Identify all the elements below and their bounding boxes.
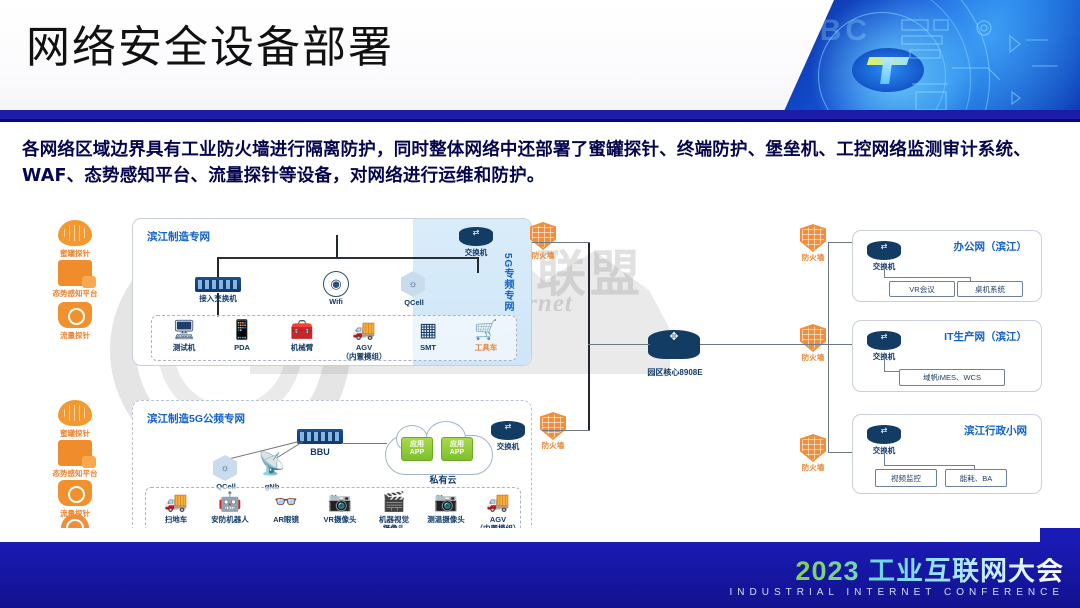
title-divider-rule: [0, 110, 1080, 119]
trunk-drop-right: [477, 257, 479, 273]
agv-label: AGV （内置模组）: [335, 344, 393, 361]
footer-notch: [0, 528, 1040, 542]
sweeper-truck-label: 扫地车: [147, 516, 205, 525]
campus-core-router-icon: ✥: [648, 330, 700, 364]
app-chip-0-line1: 应用: [410, 441, 424, 449]
rail-bottom-label-1: 态势感知平台: [42, 470, 108, 479]
switch-icon: ⇄: [491, 421, 525, 443]
switch-label: 交换机: [477, 443, 539, 452]
zone-it-title: IT生产网（滨江）: [944, 329, 1027, 344]
robot-arm-label: 机械臂: [273, 344, 331, 353]
zone-admin-drop: [884, 447, 885, 465]
firewall-shield-icon: [800, 224, 826, 252]
firewall-shield-icon: [540, 412, 566, 440]
security-robot-label: 安防机器人: [201, 516, 259, 525]
firewall-shield-icon: [800, 324, 826, 352]
security-robot-icon: 🤖: [213, 491, 247, 515]
device-security-robot: 🤖 安防机器人: [201, 491, 259, 525]
firewall-3-label: 防火墙: [796, 354, 830, 363]
pda-icon: 📱: [225, 319, 259, 343]
tester-icon: 🖥: [167, 319, 201, 343]
slide-root: CBC 网络安全设备部署 各网络区域边界具有工业防火墙进行隔离防护，同时整: [0, 0, 1080, 608]
smt-label: SMT: [399, 344, 457, 353]
zone-it-drop: [884, 353, 885, 371]
zone-admin-box-1: 能耗、BA: [945, 469, 1007, 487]
ar-glasses-icon: 👓: [269, 491, 303, 515]
device-agv-5g: 🚚 AGV （内置模组）: [469, 491, 527, 533]
app-chip-1-line2: APP: [450, 449, 464, 457]
vr-camera-icon: 📷: [323, 491, 357, 515]
zone-it-panel: IT生产网（滨江） ⇄ 交换机 域帆iMES、WCS: [852, 320, 1042, 392]
firewall-shield-icon: [800, 434, 826, 462]
app-chip-1: 应用 APP: [441, 437, 473, 461]
bastion-icon: [58, 302, 92, 328]
tool-cart-icon: 🛒: [469, 319, 503, 343]
conference-subtitle: INDUSTRIAL INTERNET CONFERENCE: [730, 587, 1064, 598]
firewall-2-label: 防火墙: [796, 254, 830, 263]
slide-description-text: 各网络区域边界具有工业防火墙进行隔离防护，同时整体网络中还部署了蜜罐探针、终端防…: [22, 138, 1066, 190]
device-vr-camera: 📷 VR摄像头: [311, 491, 369, 525]
zone-office-title: 办公网（滨江）: [954, 239, 1028, 254]
hero-tech-graphic: CBC: [780, 0, 1080, 120]
device-agv: 🚚 AGV （内置模组）: [335, 319, 393, 361]
firewall-1-label: 防火墙: [536, 442, 570, 451]
firewall-shield-icon: [530, 222, 556, 250]
conference-title: 2023 工业互联网大会: [730, 558, 1064, 585]
fw0-to-backbone: [532, 242, 590, 243]
tester-label: 测试机: [155, 344, 213, 353]
panel-manufacturing-title: 滨江制造专网: [147, 229, 210, 244]
smt-icon: ▦: [411, 319, 445, 343]
zone-office-panel: 办公网（滨江） ⇄ 交换机 VR会议 桌机系统: [852, 230, 1042, 302]
wifi-label: Wifi: [305, 298, 367, 307]
network-topology-diagram: 工业互联网产业联盟 Alliance of Industrial Interne…: [40, 212, 1050, 542]
pda-label: PDA: [213, 344, 271, 353]
zone-office-drop: [884, 263, 885, 277]
agv-icon: 🚚: [347, 319, 381, 343]
zone-admin-panel: 滨江行政小网 ⇄ 交换机 视频监控 能耗、BA: [852, 414, 1042, 494]
footer-accent-tab: [1040, 528, 1080, 542]
slide-footer-band: 2023 工业互联网大会 INDUSTRIAL INTERNET CONFERE…: [0, 542, 1080, 608]
zone-office-box-0: VR会议: [889, 281, 955, 297]
device-thermal-camera: 📷 测温摄像头: [417, 491, 475, 525]
rail-bottom-label-0: 蜜罐探针: [46, 430, 104, 439]
core-to-right-bus: [700, 344, 828, 345]
zone-office-bus: [884, 277, 970, 278]
core-switch-label: 交换机: [445, 249, 507, 258]
panel-vertical-5g-label: 5G专频专网: [501, 253, 513, 312]
rail-top-label-0: 蜜罐探针: [46, 250, 104, 259]
trunk-drop-left: [217, 257, 219, 279]
zone-admin-box-0: 视频监控: [875, 469, 937, 487]
ar-glasses-label: AR眼镜: [257, 516, 315, 525]
app-chip-0-line2: APP: [410, 449, 424, 457]
app-chip-1-line1: 应用: [450, 441, 464, 449]
app-chip-0: 应用 APP: [401, 437, 433, 461]
monitor-audit-icon: [58, 440, 92, 466]
device-tool-cart: 🛒 工具车: [457, 319, 515, 353]
conference-brand: 2023 工业互联网大会 INDUSTRIAL INTERNET CONFERE…: [730, 558, 1064, 598]
bbu-label: BBU: [289, 447, 351, 457]
panel-manufacturing-network: 滨江制造专网 接入交换机 ◉ Wifi ☼ QCell ⇄ 交换机 5G专: [132, 218, 532, 366]
device-sweeper-truck: 🚚 扫地车: [147, 491, 205, 525]
access-switch-label: 接入交换机: [181, 295, 255, 304]
vr-camera-label: VR摄像头: [311, 516, 369, 525]
firewall-4-label: 防火墙: [796, 464, 830, 473]
device-pda: 📱 PDA: [213, 319, 271, 353]
qcell-icon: ☼: [213, 455, 237, 481]
panel-5g-network: 滨江制造5G公频专网 BBU ☼ QCell 📡 gNb 应用 APP 应用 A…: [132, 400, 532, 540]
bastion-icon: [58, 480, 92, 506]
firewall-0-label: 防火墙: [526, 252, 560, 261]
gnb-icon: 📡: [255, 451, 289, 476]
tool-cart-label: 工具车: [457, 344, 515, 353]
zone-office-switch-icon: ⇄: [867, 241, 901, 263]
device-robot-arm: 🧰 机械臂: [273, 319, 331, 353]
sweeper-truck-icon: 🚚: [159, 491, 193, 515]
core-router-label: 园区核心8908E: [636, 368, 714, 377]
robot-arm-icon: 🧰: [285, 319, 319, 343]
agv-icon: 🚚: [481, 491, 515, 515]
wifi-ap-icon: ◉: [323, 271, 349, 297]
trunk-riser-mid: [336, 235, 338, 257]
core-switch-icon: ⇄: [459, 227, 493, 249]
fw1-to-backbone: [542, 430, 590, 431]
thermal-camera-label: 测温摄像头: [417, 516, 475, 525]
private-cloud-label: 私有云: [417, 475, 469, 485]
access-switch-icon: [195, 277, 241, 292]
monitor-audit-icon: [58, 260, 92, 286]
thermal-camera-icon: 📷: [429, 491, 463, 515]
right-bus-vertical: [828, 242, 829, 452]
zone-it-switch-icon: ⇄: [867, 331, 901, 353]
zone-admin-title: 滨江行政小网: [964, 423, 1027, 438]
trunk-line-h: [217, 257, 479, 259]
zone-admin-switch-icon: ⇄: [867, 425, 901, 447]
rail-top-label-1: 态势感知平台: [42, 290, 108, 299]
device-ar-glasses: 👓 AR眼镜: [257, 491, 315, 525]
hero-circuit-glyphs-icon: [892, 6, 1072, 118]
bbu-icon: [297, 429, 343, 444]
device-machine-vision-camera: 🎬 机器视觉 摄像头: [365, 491, 423, 533]
machine-vision-camera-icon: 🎬: [377, 491, 411, 515]
panel-5g-title: 滨江制造5G公频专网: [147, 411, 245, 426]
honeypot-icon: [58, 400, 92, 426]
device-tester: 🖥 测试机: [155, 319, 213, 353]
rail-top-label-2: 流量探针: [46, 332, 104, 341]
qcell-label: QCell: [385, 299, 443, 308]
backbone-vertical: [588, 242, 590, 430]
slide-header-band: CBC 网络安全设备部署: [0, 0, 1080, 120]
zone-it-box-0: 域帆iMES、WCS: [899, 369, 1005, 386]
zone-admin-bus: [884, 465, 974, 466]
zone-office-box-1: 桌机系统: [957, 281, 1023, 297]
honeypot-icon: [58, 220, 92, 246]
bbu-cloud-link: [343, 443, 387, 444]
backbone-to-core: [588, 344, 650, 345]
page-title: 网络安全设备部署: [26, 26, 394, 70]
device-smt: ▦ SMT: [399, 319, 457, 353]
